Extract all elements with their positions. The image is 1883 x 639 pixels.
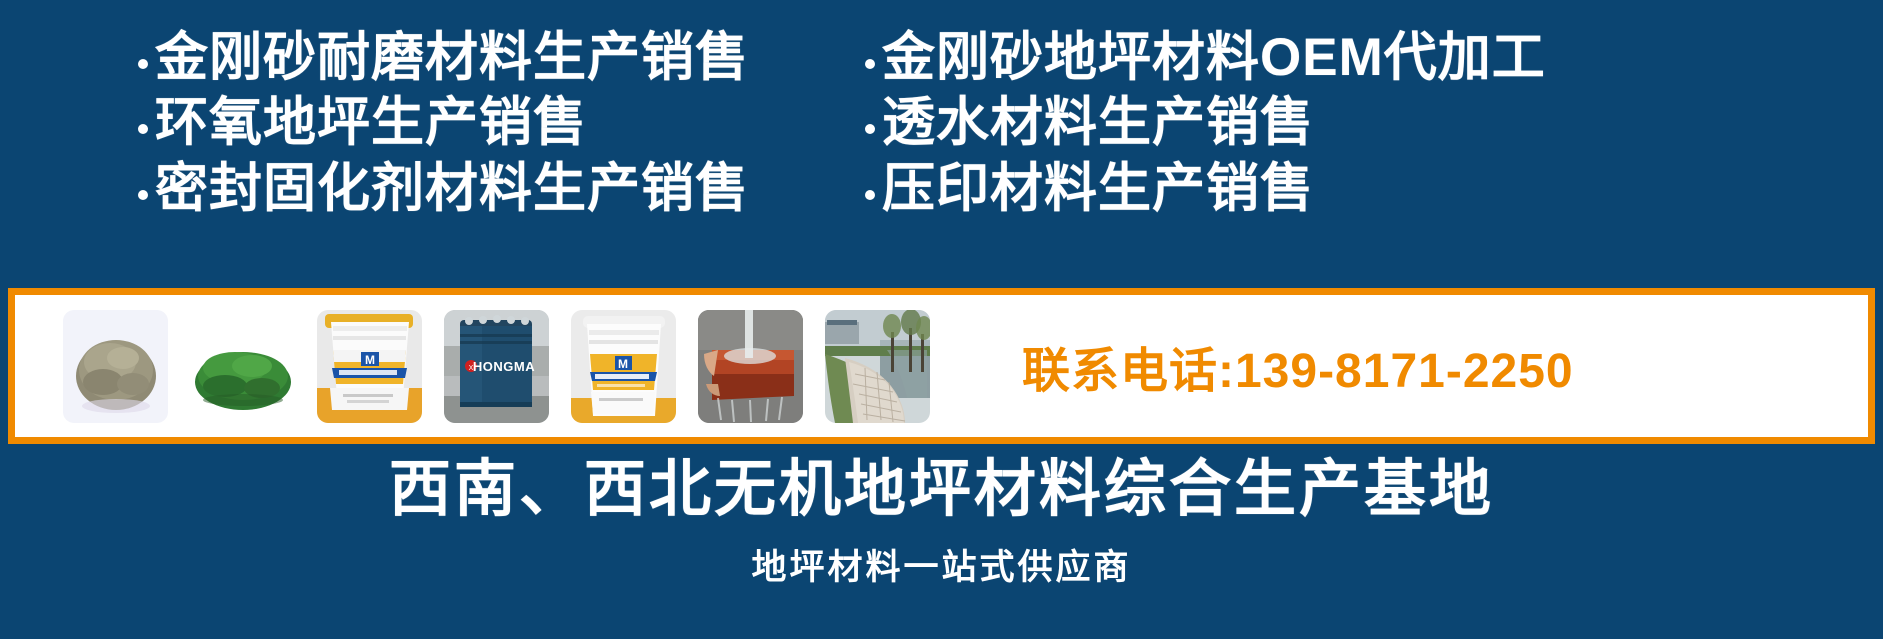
footer-section: 西南、西北无机地坪材料综合生产基地 地坪材料一站式供应商 (0, 444, 1883, 639)
service-label: 环氧地坪生产销售 (155, 93, 587, 152)
service-item: 密封固化剂材料生产销售 (138, 159, 855, 218)
service-label: 透水材料生产销售 (882, 93, 1314, 152)
service-item: 金刚砂地坪材料OEM代加工 (865, 28, 1883, 87)
svg-text:M: M (618, 357, 628, 371)
footer-headline: 西南、西北无机地坪材料综合生产基地 (389, 454, 1494, 525)
bullet-dot-icon (138, 190, 148, 200)
services-left-column: 金刚砂耐磨材料生产销售 环氧地坪生产销售 密封固化剂材料生产销售 (0, 28, 855, 288)
permeable-concrete-image (698, 310, 803, 423)
bullet-dot-icon (865, 124, 875, 134)
epoxy-pail-image: M (571, 310, 676, 423)
service-item: 环氧地坪生产销售 (138, 93, 855, 152)
product-thumbnail-list: M (15, 295, 930, 437)
service-label: 压印材料生产销售 (882, 159, 1314, 218)
service-label: 金刚砂耐磨材料生产销售 (155, 28, 749, 87)
service-item: 金刚砂耐磨材料生产销售 (138, 28, 855, 87)
product-thumb-grey-emery-powder-pile (63, 310, 168, 423)
product-thumb-white-pail-epoxy-coating: M (571, 310, 676, 423)
product-thumb-blue-drum-hongma: X HONGMA (444, 310, 549, 423)
svg-text:M: M (365, 353, 375, 367)
service-label: 金刚砂地坪材料OEM代加工 (882, 28, 1546, 87)
product-thumb-permeable-concrete-slab-water (698, 310, 803, 423)
svg-text:HONGMA: HONGMA (473, 359, 535, 374)
green-powder-image (190, 310, 295, 423)
bullet-dot-icon (865, 59, 875, 69)
product-thumb-stamped-concrete-walkway (825, 310, 930, 423)
sealer-pail-image: M (317, 310, 422, 423)
contact-phone[interactable]: 联系电话:139-8171-2250 (1022, 331, 1574, 401)
service-item: 透水材料生产销售 (865, 93, 1883, 152)
services-section: 金刚砂耐磨材料生产销售 环氧地坪生产销售 密封固化剂材料生产销售 金刚砂地坪材料… (0, 0, 1883, 288)
advertisement-banner: 金刚砂耐磨材料生产销售 环氧地坪生产销售 密封固化剂材料生产销售 金刚砂地坪材料… (0, 0, 1883, 639)
service-label: 密封固化剂材料生产销售 (155, 159, 749, 218)
footer-subline: 地坪材料一站式供应商 (751, 539, 1131, 590)
product-strip: M (8, 288, 1875, 444)
stamped-walkway-image (825, 310, 930, 423)
hongma-drum-image: X HONGMA (444, 310, 549, 423)
services-right-column: 金刚砂地坪材料OEM代加工 透水材料生产销售 压印材料生产销售 (855, 28, 1883, 288)
grey-powder-image (63, 310, 168, 423)
product-thumb-yellow-white-pail-sealer: M (317, 310, 422, 423)
bullet-dot-icon (138, 59, 148, 69)
bullet-dot-icon (138, 124, 148, 134)
product-thumb-green-emery-powder-pile (190, 310, 295, 423)
bullet-dot-icon (865, 190, 875, 200)
service-item: 压印材料生产销售 (865, 159, 1883, 218)
